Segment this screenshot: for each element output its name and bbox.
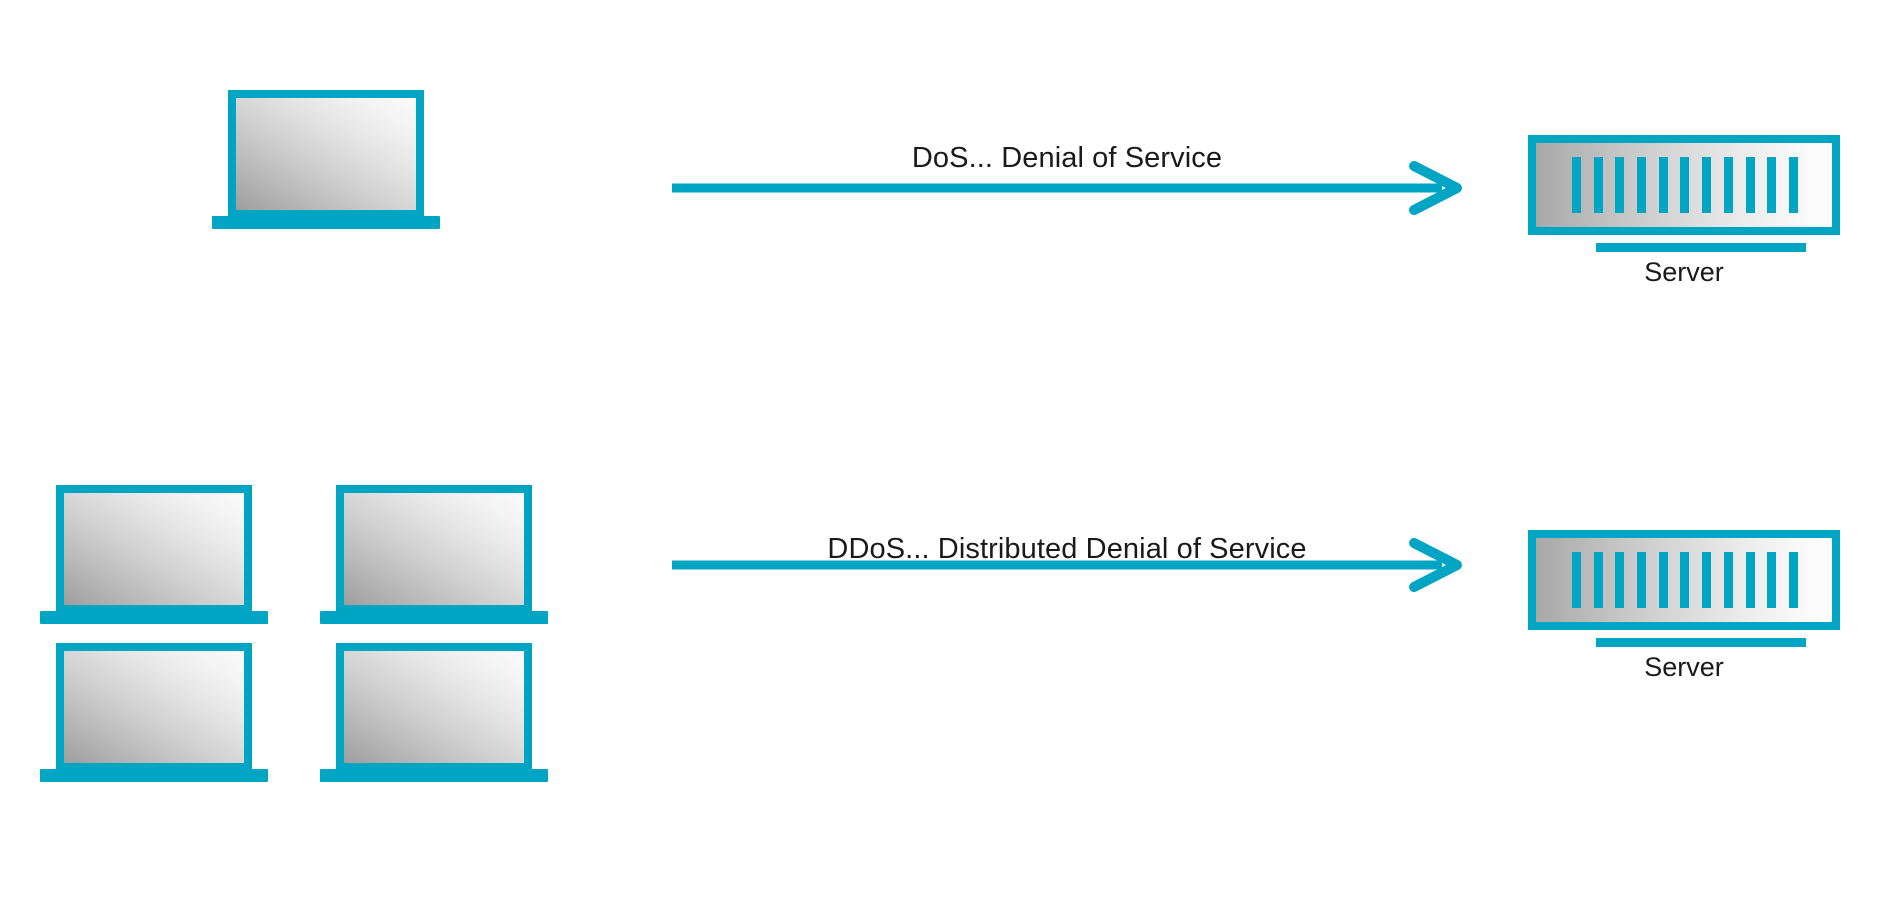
server-label: Server bbox=[1528, 257, 1840, 288]
laptop-base bbox=[320, 769, 548, 782]
server-bar bbox=[1680, 552, 1689, 608]
laptop-icon-ddos-client-4 bbox=[320, 643, 570, 798]
server-bar bbox=[1637, 157, 1646, 213]
server-bar bbox=[1789, 552, 1798, 608]
server-bar bbox=[1702, 157, 1711, 213]
server-bar-group bbox=[1572, 157, 1798, 213]
server-bar bbox=[1659, 552, 1668, 608]
server-stand bbox=[1596, 638, 1806, 647]
server-icon-dos-target: Server bbox=[1528, 135, 1840, 270]
server-bar bbox=[1702, 552, 1711, 608]
laptop-screen bbox=[228, 90, 424, 218]
laptop-screen bbox=[56, 485, 252, 613]
laptop-screen bbox=[56, 643, 252, 771]
laptop-icon-ddos-client-3 bbox=[40, 643, 290, 798]
server-bar bbox=[1594, 157, 1603, 213]
laptop-base bbox=[40, 611, 268, 624]
server-bar bbox=[1767, 552, 1776, 608]
laptop-screen bbox=[336, 643, 532, 771]
laptop-icon-ddos-client-2 bbox=[320, 485, 570, 640]
laptop-base bbox=[40, 769, 268, 782]
laptop-icon-ddos-client-1 bbox=[40, 485, 290, 640]
server-label: Server bbox=[1528, 652, 1840, 683]
server-bar bbox=[1659, 157, 1668, 213]
server-bar-group bbox=[1572, 552, 1798, 608]
server-bar bbox=[1724, 157, 1733, 213]
server-bar bbox=[1572, 157, 1581, 213]
server-bar bbox=[1724, 552, 1733, 608]
server-bar bbox=[1615, 157, 1624, 213]
server-bar bbox=[1572, 552, 1581, 608]
arrow-right-icon-ddos bbox=[672, 537, 1462, 593]
arrow-right-icon-dos bbox=[672, 160, 1462, 216]
server-bar bbox=[1615, 552, 1624, 608]
laptop-base bbox=[320, 611, 548, 624]
server-bar bbox=[1680, 157, 1689, 213]
diagram-canvas: DoS... Denial of Service bbox=[0, 0, 1880, 904]
server-icon-ddos-target: Server bbox=[1528, 530, 1840, 665]
laptop-icon-dos-client bbox=[212, 90, 452, 245]
laptop-screen bbox=[336, 485, 532, 613]
server-bar bbox=[1767, 157, 1776, 213]
laptop-base bbox=[212, 216, 440, 229]
server-stand bbox=[1596, 243, 1806, 252]
server-bar bbox=[1746, 157, 1755, 213]
server-bar bbox=[1789, 157, 1798, 213]
server-bar bbox=[1637, 552, 1646, 608]
server-bar bbox=[1594, 552, 1603, 608]
server-bar bbox=[1746, 552, 1755, 608]
